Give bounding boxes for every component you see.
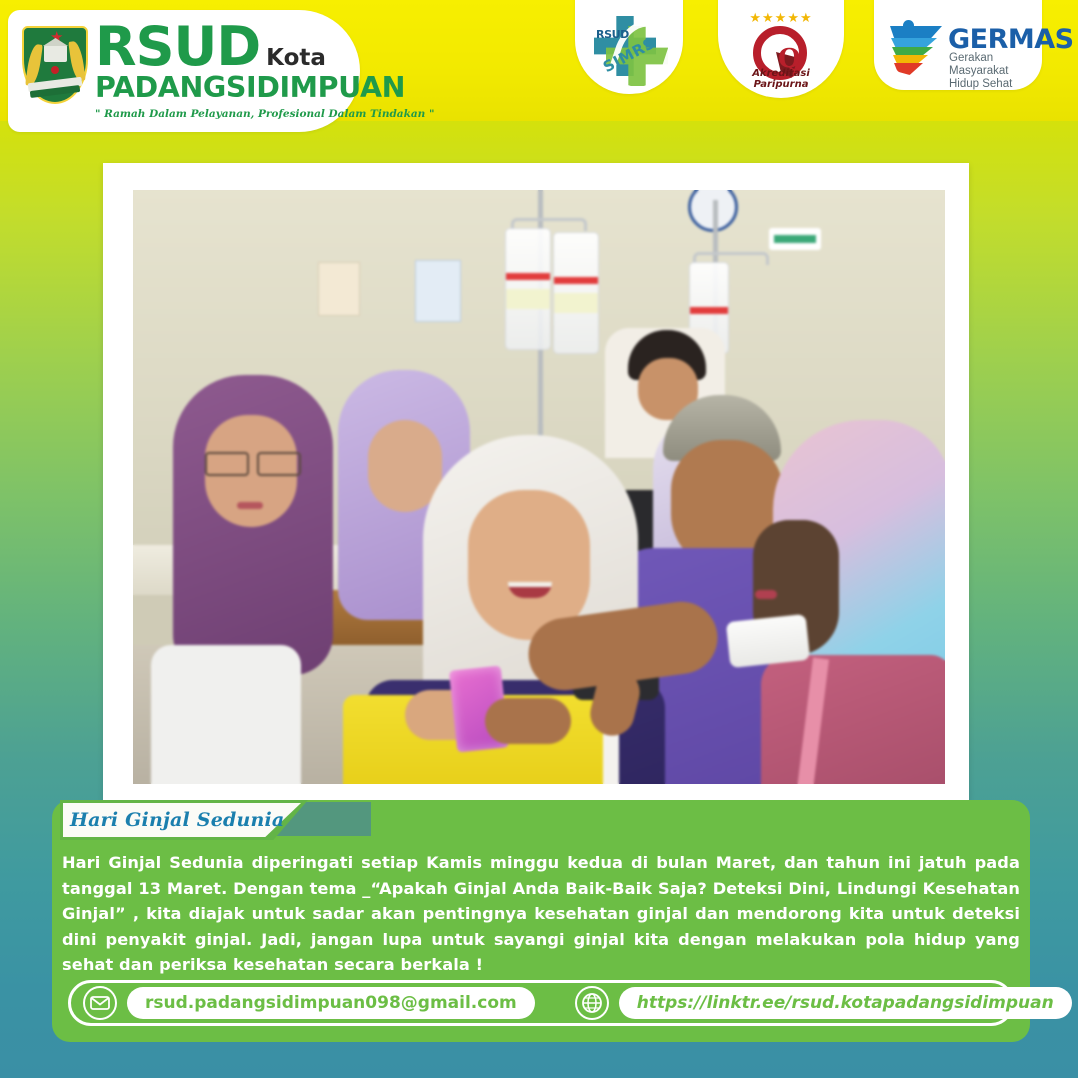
- page-title: Hari Ginjal Sedunia: [70, 806, 290, 834]
- simrs-logo: RSUD SIMRS: [588, 12, 670, 90]
- hospital-brand: RSUD Kota PADANGSIDIMPUAN " Ramah Dalam …: [95, 20, 350, 120]
- germas-figure-icon: [886, 16, 944, 78]
- brand-kota-text: Kota: [266, 43, 326, 73]
- contact-bar: rsud.padangsidimpuan098@gmail.com https:…: [68, 980, 1014, 1026]
- kidney-day-photo: [133, 190, 945, 784]
- germas-subtitle: Gerakan Masyarakat Hidup Sehat: [949, 52, 1034, 91]
- brand-city-text: PADANGSIDIMPUAN: [95, 72, 350, 104]
- email-text: rsud.padangsidimpuan098@gmail.com: [145, 993, 517, 1013]
- germas-logo: GERMAS Gerakan Masyarakat Hidup Sehat: [886, 14, 1034, 84]
- envelope-icon: [83, 986, 117, 1020]
- website-text: https://linktr.ee/rsud.kotapadangsidimpu…: [637, 993, 1054, 1013]
- brand-tagline: " Ramah Dalam Pelayanan, Profesional Dal…: [95, 108, 350, 120]
- akreditasi-logo: ★★★★★ Q Akreditasi Paripurna: [728, 8, 834, 94]
- germas-subtitle-line2: Hidup Sehat: [949, 78, 1034, 91]
- globe-icon: [575, 986, 609, 1020]
- akreditasi-caption: Akreditasi Paripurna: [730, 68, 832, 90]
- panel-body-text: Hari Ginjal Sedunia diperingati setiap K…: [62, 850, 1020, 978]
- photo-frame: [103, 163, 969, 811]
- germas-subtitle-line1: Gerakan Masyarakat: [949, 52, 1034, 78]
- website-chip[interactable]: https://linktr.ee/rsud.kotapadangsidimpu…: [619, 987, 1072, 1019]
- brand-rsud-text: RSUD: [95, 20, 260, 74]
- simrs-rsud-label: RSUD: [596, 28, 629, 41]
- email-chip[interactable]: rsud.padangsidimpuan098@gmail.com: [127, 987, 535, 1019]
- hospital-crest-icon: [22, 26, 88, 104]
- stars-icon: ★★★★★: [746, 10, 816, 26]
- header-bar: RSUD Kota PADANGSIDIMPUAN " Ramah Dalam …: [0, 0, 1078, 121]
- germas-title: GERMAS: [948, 24, 1074, 55]
- poster-root: RSUD Kota PADANGSIDIMPUAN " Ramah Dalam …: [0, 0, 1078, 1078]
